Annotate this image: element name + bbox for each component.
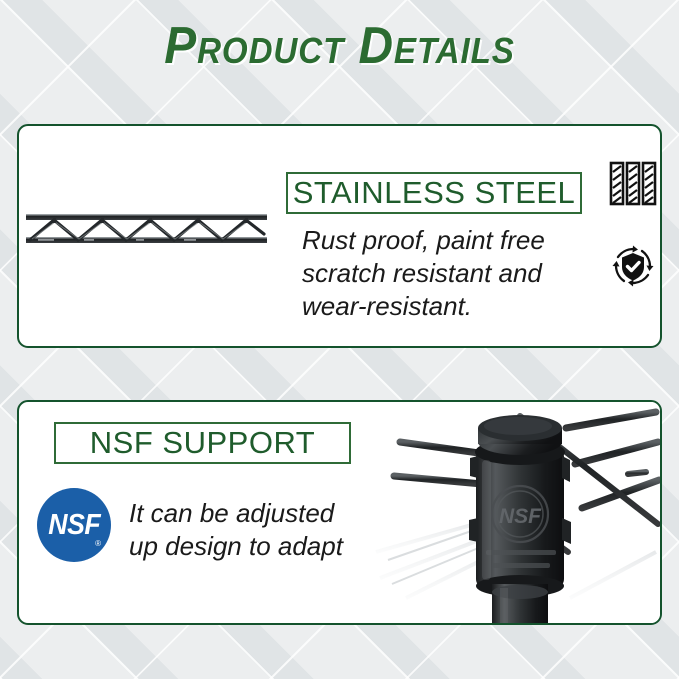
body-text-stainless-steel: Rust proof, paint free scratch resistant… — [302, 224, 602, 323]
shield-check-cycle-icon — [605, 238, 661, 294]
nsf-logo: NSF ® — [37, 488, 111, 562]
card-nsf-support: NSF SUPPORT NSF ® It can be adjusted up … — [17, 400, 662, 625]
heading-nsf-support: NSF SUPPORT — [90, 425, 315, 461]
nsf-logo-text: NSF — [48, 509, 100, 542]
shelf-post-photo: NSF — [370, 402, 660, 623]
heading-stainless-steel: STAINLESS STEEL — [293, 175, 576, 211]
heading-box-nsf-support: NSF SUPPORT — [54, 422, 351, 464]
nsf-registered-mark: ® — [95, 539, 101, 548]
steel-bars-icon — [609, 161, 657, 206]
card-stainless-steel: V-SHAPE STAINLESS STEEL Rust proof, pain… — [17, 124, 662, 348]
page-title: Product Details — [27, 16, 652, 76]
svg-text:NSF: NSF — [499, 505, 542, 528]
body-text-nsf-support: It can be adjusted up design to adapt — [129, 497, 409, 563]
heading-box-stainless-steel: STAINLESS STEEL — [286, 172, 582, 214]
v-shape-truss-image — [24, 210, 269, 250]
product-details-infographic: Product Details — [0, 0, 679, 679]
